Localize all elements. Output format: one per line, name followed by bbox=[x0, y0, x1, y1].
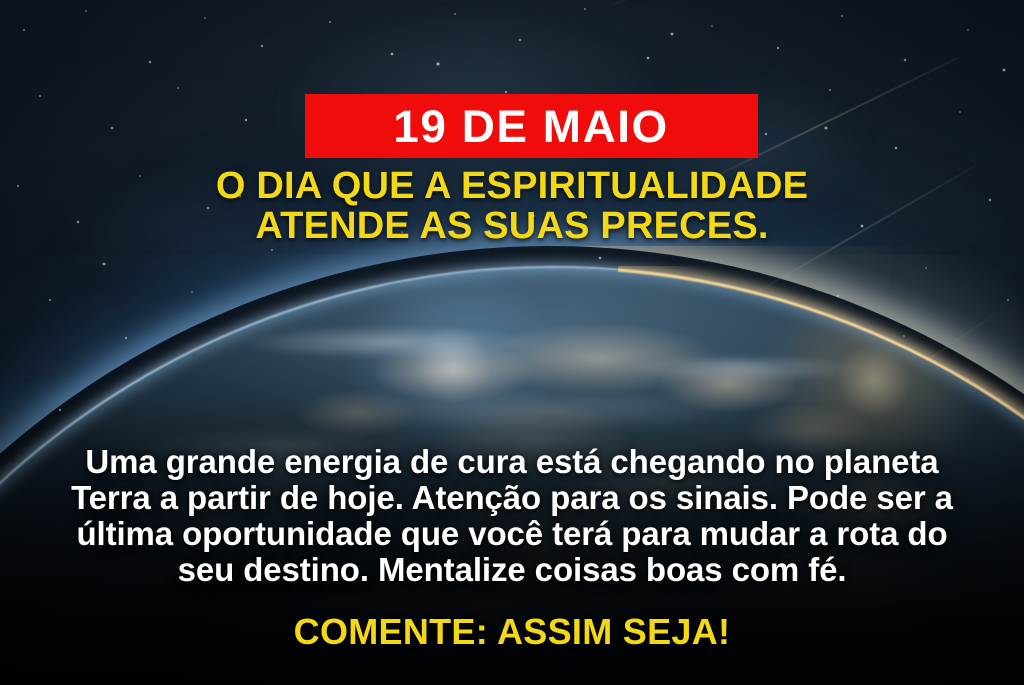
headline-line-2: ATENDE AS SUAS PRECES. bbox=[0, 206, 1024, 246]
headline-line-1: O DIA QUE A ESPIRITUALIDADE bbox=[0, 166, 1024, 206]
body-paragraph: Uma grande energia de cura está chegando… bbox=[58, 444, 966, 588]
call-to-action-label: COMENTE: ASSIM SEJA! bbox=[0, 612, 1024, 652]
date-banner: 19 DE MAIO bbox=[305, 94, 758, 158]
date-banner-label: 19 DE MAIO bbox=[394, 104, 669, 149]
poster-canvas: 19 DE MAIO O DIA QUE A ESPIRITUALIDADE A… bbox=[0, 0, 1024, 685]
poster-content: 19 DE MAIO O DIA QUE A ESPIRITUALIDADE A… bbox=[0, 0, 1024, 685]
headline: O DIA QUE A ESPIRITUALIDADE ATENDE AS SU… bbox=[0, 166, 1024, 246]
